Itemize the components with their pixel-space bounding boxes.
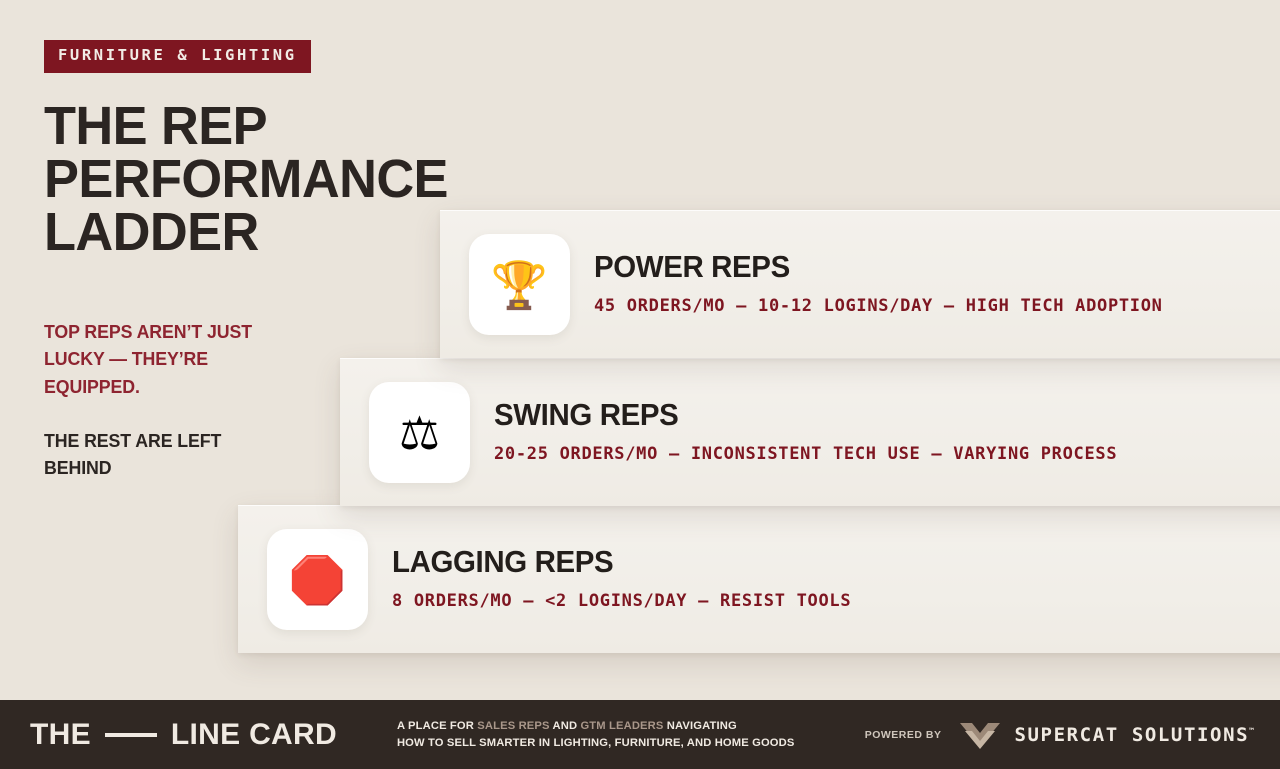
powered-by-label: POWERED BY	[865, 729, 942, 741]
tagline-line-1: A PLACE FOR SALES REPS AND GTM LEADERS N…	[397, 718, 795, 735]
icon-tile: 🛑	[267, 529, 368, 630]
tier-title: LAGGING REPS	[392, 546, 828, 579]
tagline-text: AND	[550, 720, 581, 732]
ladder-tier-lagging: 🛑 LAGGING REPS 8 ORDERS/MO — <2 LOGINS/D…	[238, 505, 1280, 653]
trophy-icon: 🏆	[491, 262, 548, 308]
subhead-secondary: THE REST ARE LEFT BEHIND	[44, 427, 274, 482]
footer-bar: THE LINE CARD A PLACE FOR SALES REPS AND…	[0, 700, 1280, 769]
tagline-text: A PLACE FOR	[397, 720, 477, 732]
stop-sign-icon: 🛑	[289, 557, 346, 603]
icon-tile: ⚖	[369, 382, 470, 483]
tier-stats: 8 ORDERS/MO — <2 LOGINS/DAY — RESIST TOO…	[392, 591, 851, 611]
brand-suffix: LINE CARD	[171, 718, 337, 752]
tagline-text: NAVIGATING	[664, 720, 737, 732]
tier-stats: 45 ORDERS/MO — 10-12 LOGINS/DAY — HIGH T…	[594, 296, 1163, 316]
tier-stats: 20-25 ORDERS/MO — INCONSISTENT TECH USE …	[494, 444, 1117, 464]
logo-trademark: ™	[1249, 726, 1254, 735]
subhead-primary: TOP REPS AREN’T JUST LUCKY — THEY’RE EQU…	[44, 318, 270, 400]
tier-text: SWING REPS 20-25 ORDERS/MO — INCONSISTEN…	[494, 399, 1117, 467]
logo-name: SUPERCAT SOLUTIONS	[1014, 724, 1249, 746]
footer-brand: THE LINE CARD	[30, 718, 337, 752]
tagline-highlight-sales-reps: SALES REPS	[477, 720, 549, 732]
tagline-highlight-gtm-leaders: GTM LEADERS	[580, 720, 663, 732]
footer-tagline: A PLACE FOR SALES REPS AND GTM LEADERS N…	[397, 718, 795, 751]
tier-title: SWING REPS	[494, 399, 1086, 432]
category-badge: FURNITURE & LIGHTING	[44, 40, 311, 73]
poster-stage: FURNITURE & LIGHTING THE REP PERFORMANCE…	[0, 0, 1280, 700]
tier-title: POWER REPS	[594, 251, 1134, 284]
brand-prefix: THE	[30, 718, 91, 752]
tagline-line-2: HOW TO SELL SMARTER IN LIGHTING, FURNITU…	[397, 735, 795, 752]
supercat-wordmark: SUPERCAT SOLUTIONS™	[1014, 724, 1254, 746]
supercat-wing-logo-icon	[959, 720, 1001, 750]
tier-text: LAGGING REPS 8 ORDERS/MO — <2 LOGINS/DAY…	[392, 546, 851, 614]
tier-text: POWER REPS 45 ORDERS/MO — 10-12 LOGINS/D…	[594, 251, 1163, 319]
ladder-tier-power: 🏆 POWER REPS 45 ORDERS/MO — 10-12 LOGINS…	[440, 210, 1280, 358]
footer-attribution: POWERED BY SUPERCAT SOLUTIONS™	[865, 720, 1254, 750]
balance-scale-icon: ⚖	[399, 410, 440, 456]
icon-tile: 🏆	[469, 234, 570, 335]
brand-divider-icon	[105, 733, 157, 737]
ladder-tier-swing: ⚖ SWING REPS 20-25 ORDERS/MO — INCONSIST…	[340, 358, 1280, 506]
